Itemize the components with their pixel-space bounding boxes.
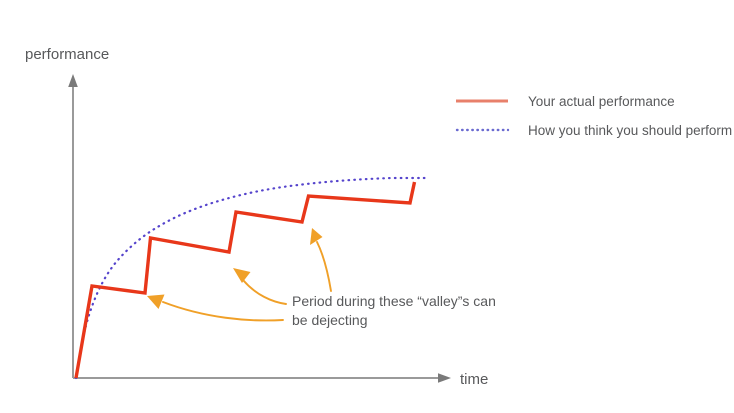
y-axis-label: performance	[25, 46, 109, 63]
annotation-text-line-2: be dejecting	[292, 312, 368, 328]
annotation-arrow-1	[163, 302, 283, 320]
x-axis-arrowhead	[438, 373, 451, 383]
legend-label-actual: Your actual performance	[528, 94, 675, 109]
legend-item-expected[interactable]: How you think you should perform	[457, 123, 732, 138]
actual-performance-curve	[76, 182, 415, 378]
performance-chart-svg: performance time Period during these “va…	[0, 0, 734, 413]
y-axis-arrowhead	[68, 74, 78, 87]
chart-container: performance time Period during these “va…	[0, 0, 734, 413]
annotation-text-block: Period during these “valley”s can be dej…	[292, 293, 496, 328]
annotation-arrow-2	[243, 280, 286, 304]
x-axis-label: time	[460, 371, 488, 388]
legend: Your actual performance How you think yo…	[456, 94, 732, 138]
annotation-arrowhead-2	[233, 268, 251, 283]
expected-performance-curve	[76, 178, 425, 378]
annotation-arrowhead-1	[147, 295, 165, 310]
annotation-arrow-3	[317, 242, 331, 291]
legend-item-actual[interactable]: Your actual performance	[456, 94, 675, 109]
legend-label-expected: How you think you should perform	[528, 123, 732, 138]
annotation-text-line-1: Period during these “valley”s can	[292, 293, 496, 309]
axes-group	[68, 74, 451, 383]
